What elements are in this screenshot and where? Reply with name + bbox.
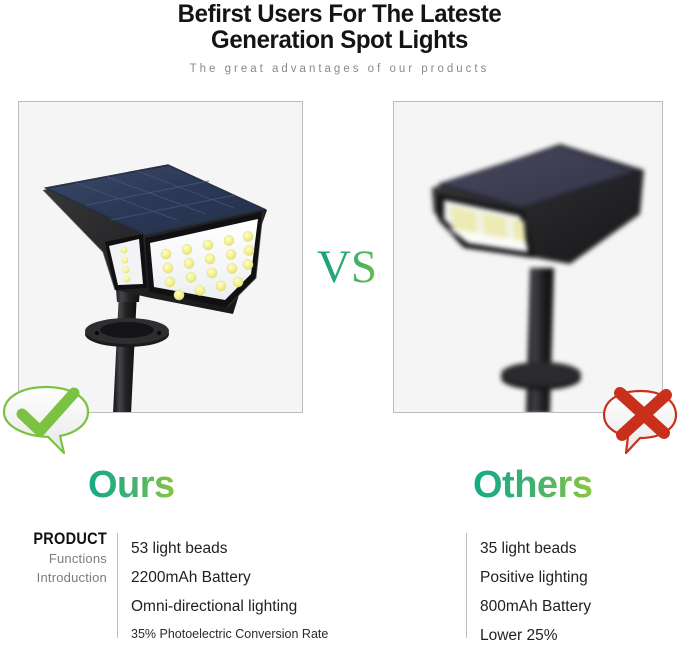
ours-heading: Ours	[88, 466, 175, 504]
cross-badge	[600, 385, 679, 455]
list-item: Omni-directional lighting	[131, 592, 328, 621]
page-title-line-1: Befirst Users For The Lateste	[178, 0, 502, 28]
competitor-solar-spot-light-image	[394, 102, 663, 413]
our-solar-spot-light-image	[19, 102, 303, 413]
cross-badge-icon	[600, 385, 679, 455]
product-label-sub-line-1: Functions	[0, 549, 107, 568]
competitor-product-photo-frame	[393, 101, 663, 413]
others-heading: Others	[473, 466, 592, 504]
versus-label: VS	[313, 244, 381, 291]
page-title: Befirst Users For The Lateste Generation…	[14, 0, 666, 53]
product-label-main: PRODUCT	[13, 529, 107, 549]
others-feature-list: 35 light beads Positive lighting 800mAh …	[480, 534, 591, 650]
our-product-photo-frame	[18, 101, 303, 413]
product-label-sub-line-2: Introduction	[0, 568, 107, 587]
product-functions-label: PRODUCT Functions Introduction	[0, 529, 107, 587]
page-header: Befirst Users For The Lateste Generation…	[0, 0, 679, 75]
page-subtitle: The great advantages of our products	[0, 63, 679, 75]
list-item: 800mAh Battery	[480, 592, 591, 621]
page-title-line-2: Generation Spot Lights	[14, 27, 666, 53]
list-item: Positive lighting	[480, 563, 591, 592]
list-item: Lower 25%	[480, 621, 591, 650]
list-item: 53 light beads	[131, 534, 328, 563]
list-item: 35 light beads	[480, 534, 591, 563]
check-badge	[0, 383, 92, 455]
list-item: 35% Photoelectric Conversion Rate	[131, 621, 328, 647]
others-list-divider	[466, 533, 467, 638]
list-item: 2200mAh Battery	[131, 563, 328, 592]
ours-feature-list: 53 light beads 2200mAh Battery Omni-dire…	[131, 534, 328, 647]
check-badge-icon	[0, 383, 92, 455]
ours-list-divider	[117, 533, 118, 638]
